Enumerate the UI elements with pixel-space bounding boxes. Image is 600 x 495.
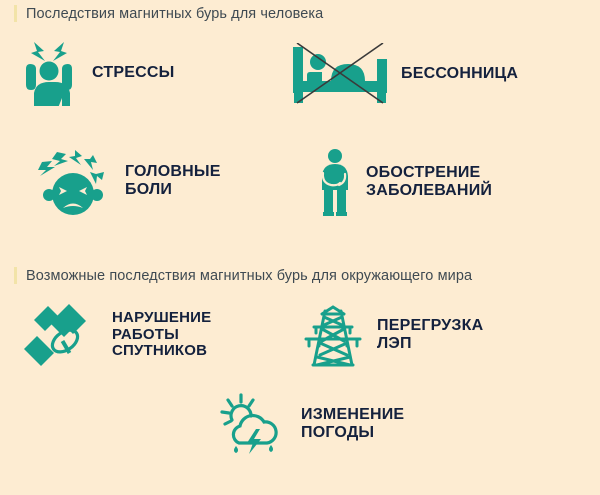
bed-crossed-out-icon	[291, 43, 391, 105]
accent-bar-icon	[14, 267, 17, 284]
list-item: ГОЛОВНЫЕ БОЛИ	[30, 146, 221, 216]
list-item-label: ОБОСТРЕНИЕ ЗАБОЛЕВАНИЙ	[366, 164, 492, 200]
accent-bar-icon	[14, 5, 17, 22]
angry-face-headache-icon	[30, 146, 114, 216]
stressed-person-icon	[18, 40, 80, 106]
list-item-label: ГОЛОВНЫЕ БОЛИ	[125, 163, 221, 199]
satellite-icon	[20, 302, 102, 368]
list-item: ОБОСТРЕНИЕ ЗАБОЛЕВАНИЙ	[316, 148, 492, 216]
section-header-world: Возможные последствия магнитных бурь для…	[14, 267, 472, 284]
power-pylon-icon	[300, 303, 366, 367]
section-header-human: Последствия магнитных бурь для человека	[14, 5, 323, 22]
section-title: Возможные последствия магнитных бурь для…	[26, 268, 472, 284]
person-stomach-ache-icon	[316, 148, 354, 216]
list-item: ПЕРЕГРУЗКА ЛЭП	[300, 303, 483, 367]
list-item: ИЗМЕНЕНИЕ ПОГОДЫ	[219, 393, 404, 455]
list-item: БЕССОННИЦА	[291, 43, 518, 105]
list-item-label: БЕССОННИЦА	[401, 65, 518, 83]
infographic-canvas: Последствия магнитных бурь для человека	[0, 0, 600, 495]
list-item-label: СТРЕССЫ	[92, 64, 174, 82]
list-item-label: ИЗМЕНЕНИЕ ПОГОДЫ	[301, 406, 404, 442]
list-item: НАРУШЕНИЕ РАБОТЫ СПУТНИКОВ	[20, 302, 211, 368]
list-item: СТРЕССЫ	[18, 40, 174, 106]
list-item-label: НАРУШЕНИЕ РАБОТЫ СПУТНИКОВ	[112, 310, 211, 360]
sun-cloud-storm-icon	[219, 393, 291, 455]
list-item-label: ПЕРЕГРУЗКА ЛЭП	[377, 317, 483, 353]
section-title: Последствия магнитных бурь для человека	[26, 6, 323, 22]
